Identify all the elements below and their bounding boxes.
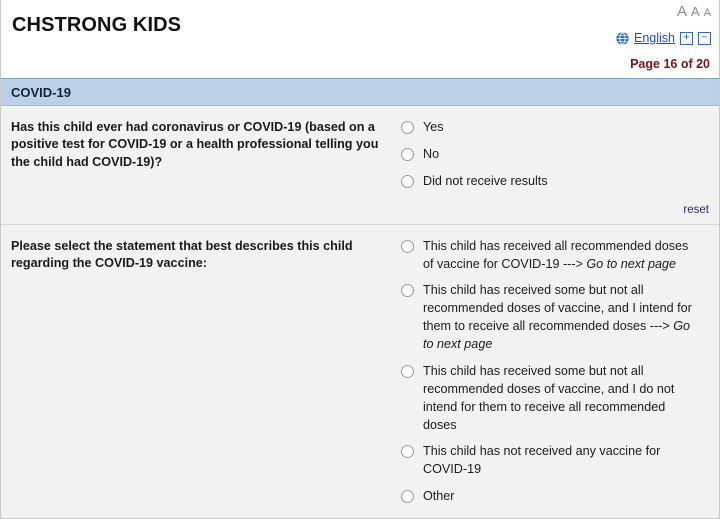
radio-option-label[interactable]: This child has not received any vaccine … [423,443,695,479]
reset-row: reset [401,200,710,218]
header-tools: A A A English + − [616,4,711,46]
radio-option[interactable]: Did not receive results [401,173,710,191]
page-indicator: Page 16 of 20 [630,57,710,71]
question-block-covid-vaccine-status: Please select the statement that best de… [1,225,719,519]
reset-link[interactable]: reset [683,204,709,216]
globe-icon [616,32,629,45]
language-row: English + − [616,30,711,46]
option-main-text: This child has received some but not all… [423,283,692,333]
radio-option-label[interactable]: This child has received some but not all… [423,282,695,354]
zoom-in-button[interactable]: + [680,32,693,45]
font-size-small-button[interactable]: A [704,8,711,19]
radio-option-label[interactable]: Other [423,488,455,506]
question-text: Please select the statement that best de… [10,238,398,519]
section-title: COVID-19 [11,85,71,100]
question-options: Yes No Did not receive results reset [398,119,710,218]
radio-option[interactable]: Other [401,488,710,506]
radio-button-icon[interactable] [401,148,414,161]
radio-button-icon[interactable] [401,490,414,503]
page-title: CHSTRONG KIDS [12,14,181,37]
radio-option[interactable]: Yes [401,119,710,137]
option-italic-note: Go to next page [586,257,676,271]
radio-button-icon[interactable] [401,284,414,297]
font-size-controls[interactable]: A A A [616,4,711,22]
zoom-in-label: + [681,33,692,44]
question-block-covid-history: Has this child ever had coronavirus or C… [1,106,719,225]
radio-option[interactable]: This child has received some but not all… [401,363,710,435]
radio-option[interactable]: This child has received all recommended … [401,238,710,274]
survey-page: CHSTRONG KIDS A A A English [0,0,720,519]
radio-button-icon[interactable] [401,240,414,253]
question-text: Has this child ever had coronavirus or C… [10,119,398,218]
zoom-out-button[interactable]: − [698,32,711,45]
radio-button-icon[interactable] [401,365,414,378]
radio-option-label[interactable]: This child has received all recommended … [423,238,695,274]
radio-option-label[interactable]: Did not receive results [423,173,548,191]
font-size-large-button[interactable]: A [677,4,687,19]
question-options: This child has received all recommended … [398,238,710,519]
radio-option-label[interactable]: No [423,146,439,164]
radio-option[interactable]: No [401,146,710,164]
radio-option[interactable]: This child has not received any vaccine … [401,443,710,479]
radio-option[interactable]: This child has received some but not all… [401,282,710,354]
radio-button-icon[interactable] [401,445,414,458]
language-link[interactable]: English [634,31,675,45]
page-header: CHSTRONG KIDS A A A English [1,0,719,78]
radio-button-icon[interactable] [401,121,414,134]
zoom-out-label: − [699,33,710,44]
section-header: COVID-19 [1,78,719,106]
radio-option-label[interactable]: Yes [423,119,444,137]
radio-option-label[interactable]: This child has received some but not all… [423,363,695,435]
reset-row: reset [401,515,710,519]
radio-button-icon[interactable] [401,175,414,188]
font-size-medium-button[interactable]: A [691,5,700,18]
